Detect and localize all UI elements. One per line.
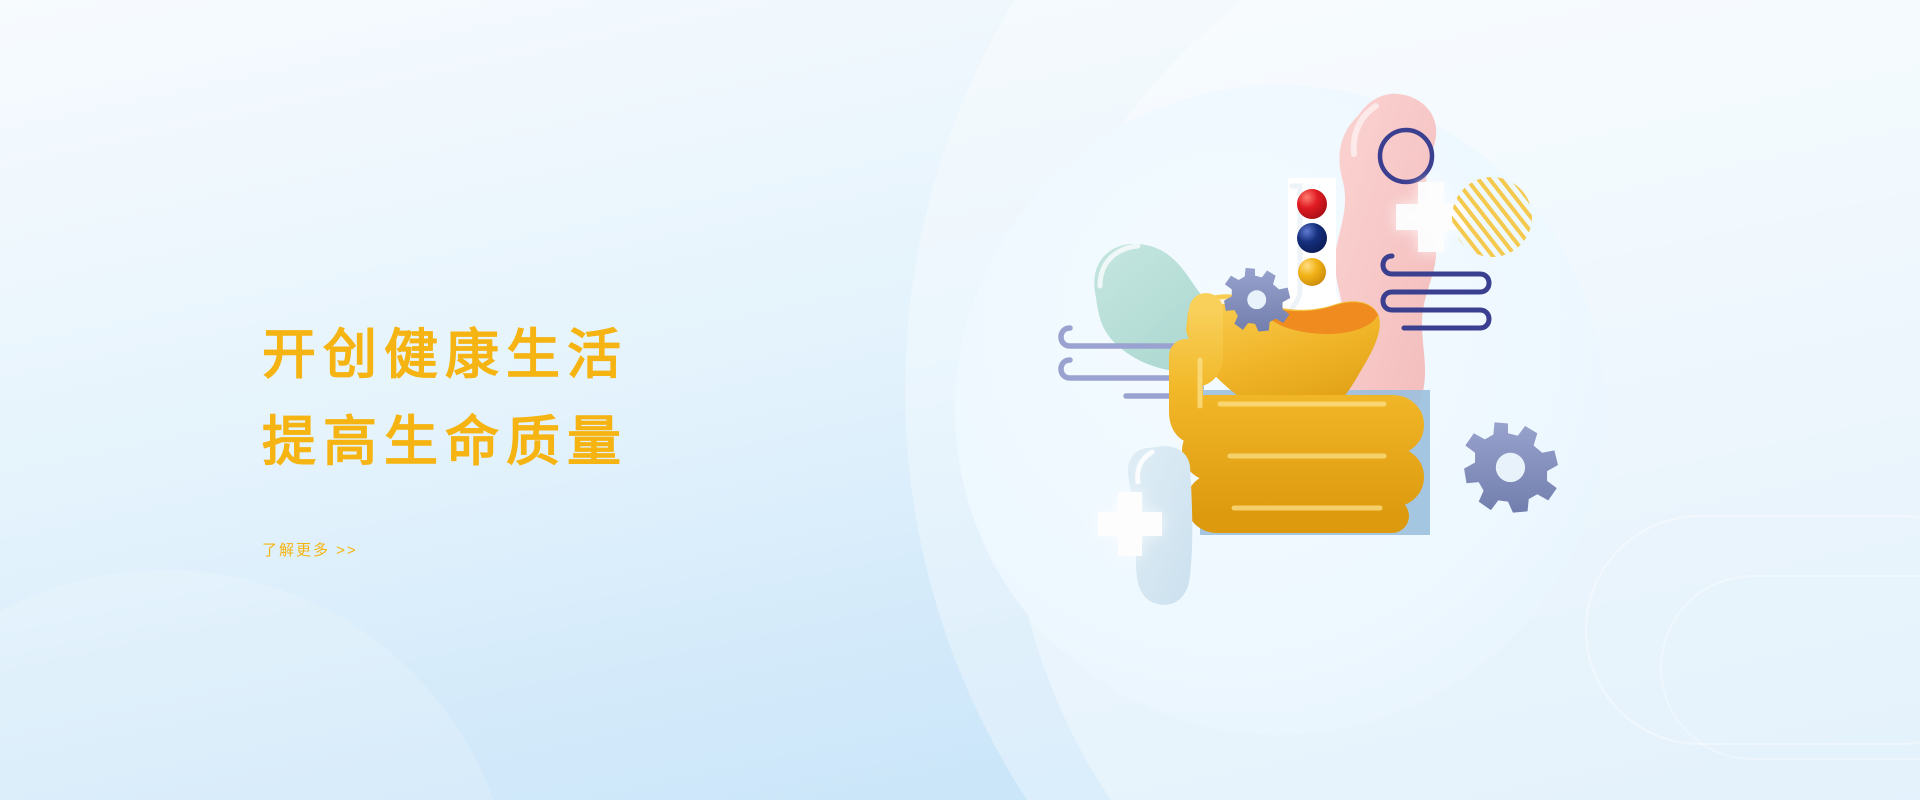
background-pill-outline-2	[1660, 575, 1920, 760]
headline-line-2: 提高生命质量	[262, 399, 882, 486]
gear-large-icon	[1464, 422, 1558, 512]
striped-circle-icon	[1452, 177, 1532, 257]
background-bottom-left-circle	[0, 570, 515, 800]
digestive-system-illustration	[1040, 60, 1660, 760]
headline-line-1: 开创健康生活	[262, 312, 882, 399]
hero-copy: 开创健康生活 提高生命质量 了解更多 >>	[262, 312, 882, 560]
learn-more-link[interactable]: 了解更多 >>	[262, 539, 358, 560]
hero-banner: 开创健康生活 提高生命质量 了解更多 >>	[0, 0, 1920, 800]
